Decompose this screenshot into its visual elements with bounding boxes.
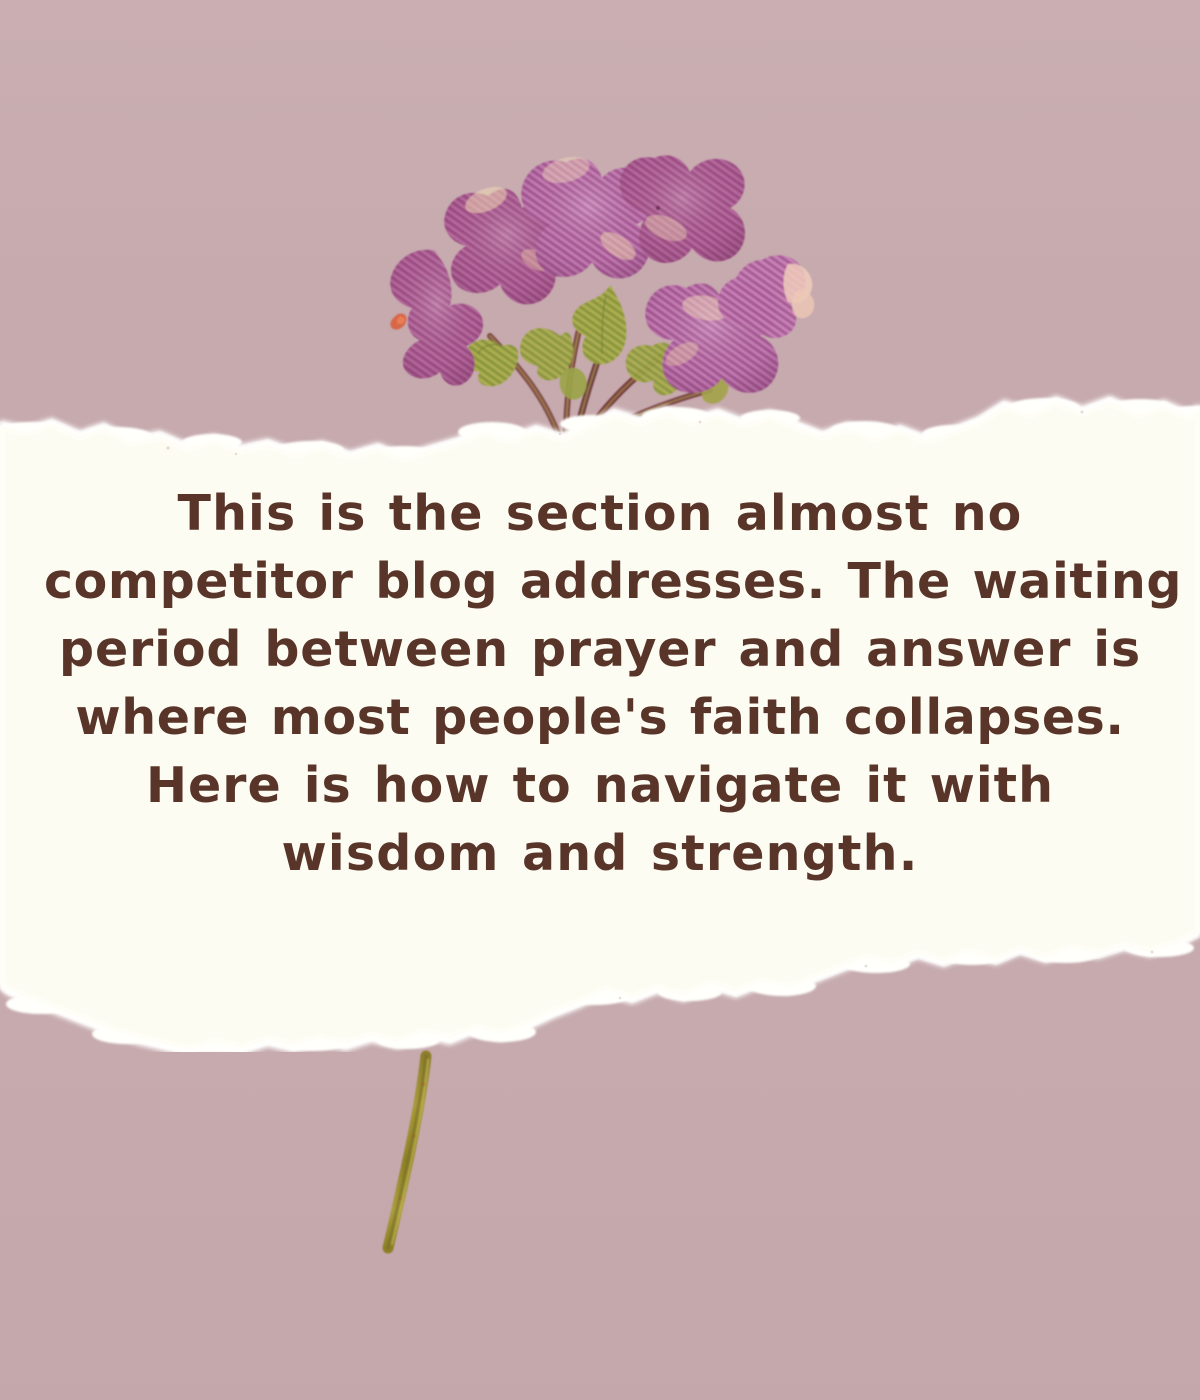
quote-line-4: where most people's faith collapses. (44, 684, 1156, 752)
quote-line-5: Here is how to navigate it with (44, 752, 1156, 820)
quote-card-canvas: This is the section almost no competitor… (0, 0, 1200, 1400)
quote-line-1: This is the section almost no (44, 480, 1156, 548)
quote-line-3: period between prayer and answer is (44, 616, 1156, 684)
quote-line-6: wisdom and strength. (44, 820, 1156, 888)
quote-line-2: competitor blog addresses. The waiting (44, 548, 1156, 616)
quote-text-block: This is the section almost no competitor… (0, 480, 1200, 888)
